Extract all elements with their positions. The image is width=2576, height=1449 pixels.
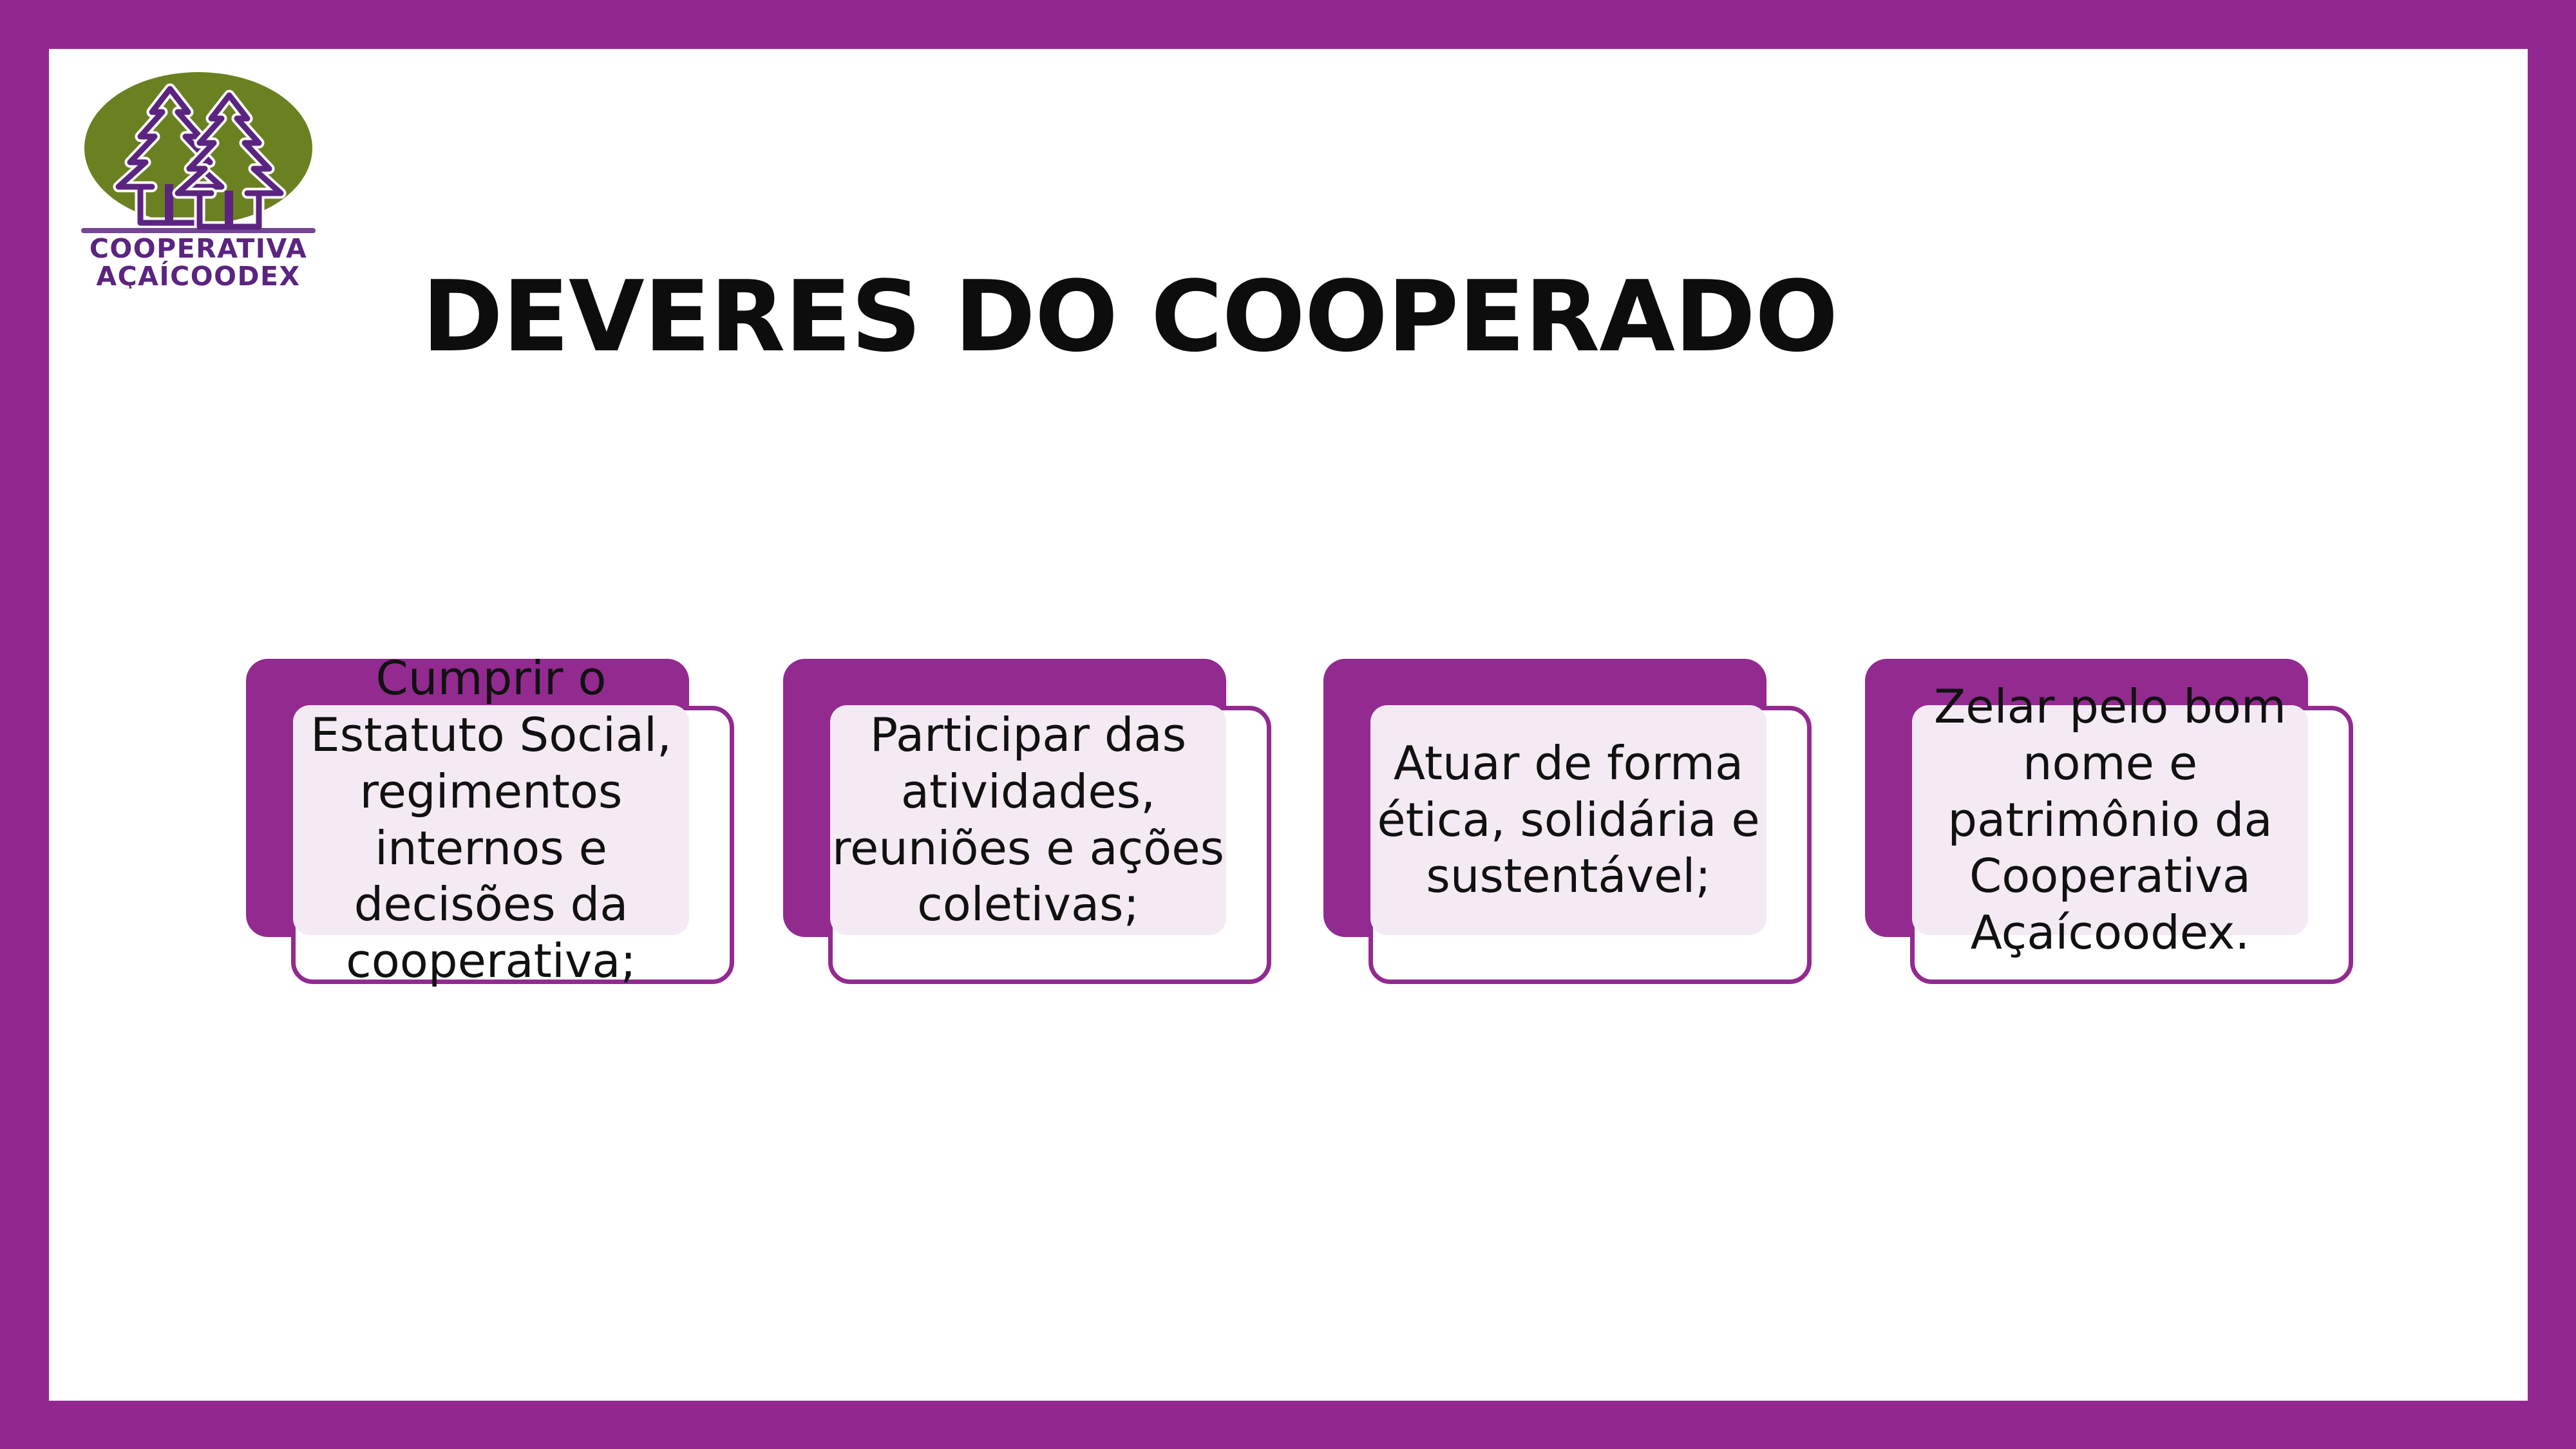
duty-card-4[interactable]: Zelar pelo bom nome e patrimônio da Coop… bbox=[1865, 659, 2354, 984]
card-text-panel: Participar das atividades, reuniões e aç… bbox=[830, 705, 1226, 935]
duty-card-3[interactable]: Atuar de forma ética, solidária e susten… bbox=[1323, 659, 1813, 984]
card-text-panel: Atuar de forma ética, solidária e susten… bbox=[1370, 705, 1766, 935]
duty-card-1-text: Cumprir o Estatuto Social, regimentos in… bbox=[293, 650, 689, 990]
logo-line1: COOPERATIVA bbox=[90, 233, 307, 264]
card-text-panel: Cumprir o Estatuto Social, regimentos in… bbox=[293, 705, 689, 935]
duty-card-2[interactable]: Participar das atividades, reuniões e aç… bbox=[783, 659, 1273, 984]
slide: COOPERATIVA AÇAÍCOODEX DEVERES DO COOPER… bbox=[0, 0, 2576, 1449]
duty-card-4-text: Zelar pelo bom nome e patrimônio da Coop… bbox=[1912, 679, 2308, 961]
page-title: DEVERES DO COOPERADO bbox=[422, 265, 1837, 368]
duty-card-2-text: Participar das atividades, reuniões e aç… bbox=[830, 707, 1226, 933]
card-text-panel: Zelar pelo bom nome e patrimônio da Coop… bbox=[1912, 705, 2308, 935]
cooperativa-acaicoodex-logo: COOPERATIVA AÇAÍCOODEX bbox=[76, 64, 321, 289]
duty-card-1[interactable]: Cumprir o Estatuto Social, regimentos in… bbox=[246, 659, 735, 984]
duty-card-3-text: Atuar de forma ética, solidária e susten… bbox=[1370, 735, 1766, 905]
logo-line2: AÇAÍCOODEX bbox=[96, 261, 300, 289]
